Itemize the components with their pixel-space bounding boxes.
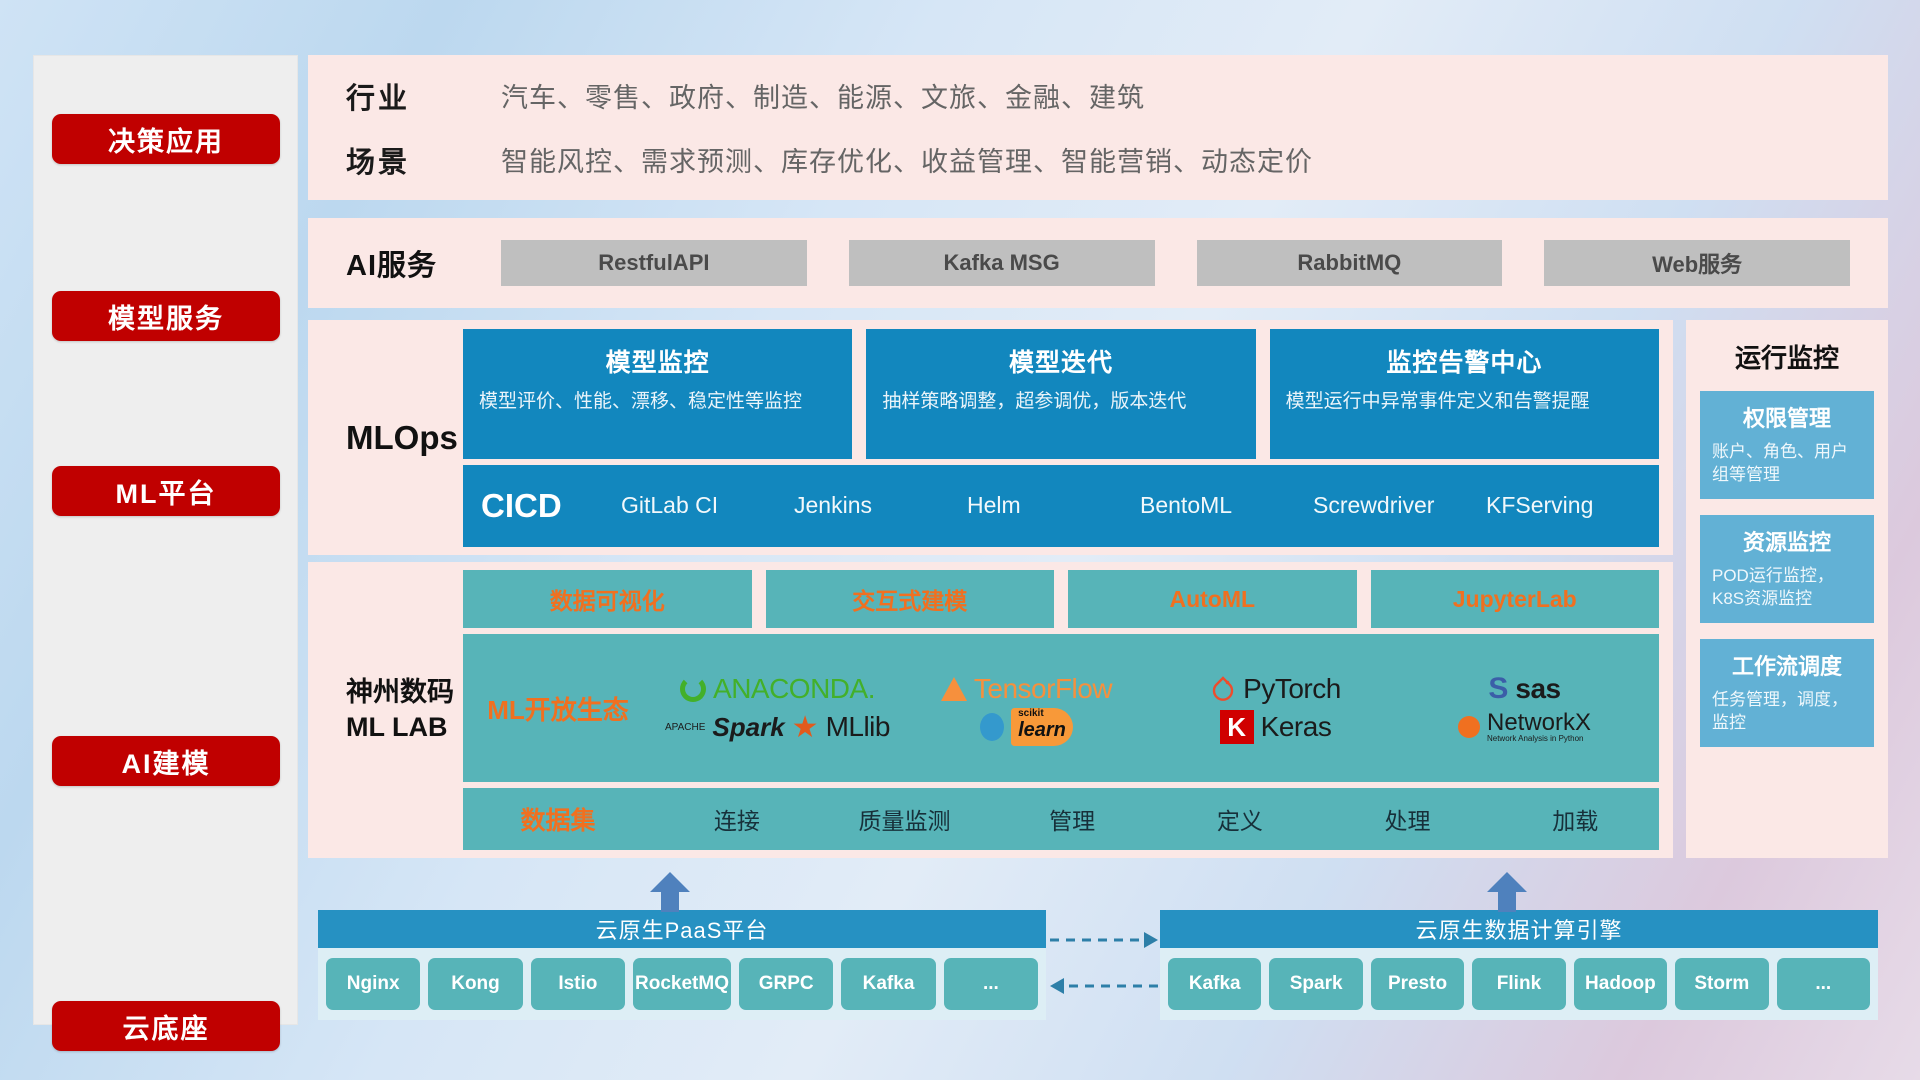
networkx-tagline: Network Analysis in Python bbox=[1487, 735, 1591, 743]
cloud-chip-grpc[interactable]: GRPC bbox=[739, 958, 833, 1010]
dataset-item-manage[interactable]: 管理 bbox=[988, 802, 1156, 836]
ml-open-ecosystem-band: ML开放生态 ANACONDA. TensorFlow bbox=[463, 634, 1659, 782]
engine-chip-hadoop[interactable]: Hadoop bbox=[1574, 958, 1667, 1010]
cloud-native-data-engine-group: 云原生数据计算引擎 Kafka Spark Presto Flink Hadoo… bbox=[1160, 910, 1878, 1020]
tool-interactive-modeling[interactable]: 交互式建模 bbox=[766, 570, 1055, 628]
card-desc: POD运行监控，K8S资源监控 bbox=[1712, 565, 1862, 611]
scikit-badge: scikit learn bbox=[1011, 708, 1073, 746]
dataset-item-load[interactable]: 加载 bbox=[1491, 802, 1659, 836]
cicd-item-jenkins[interactable]: Jenkins bbox=[794, 492, 967, 518]
ai-service-rabbitmq[interactable]: RabbitMQ bbox=[1197, 240, 1503, 286]
rail-item-cloud-base[interactable]: 云底座 bbox=[52, 1001, 280, 1051]
pytorch-flame-icon bbox=[1210, 675, 1236, 703]
cicd-item-screwdriver[interactable]: Screwdriver bbox=[1313, 492, 1486, 518]
monitor-card-resource[interactable]: 资源监控 POD运行监控，K8S资源监控 bbox=[1700, 515, 1874, 623]
mlops-card-alert-center[interactable]: 监控告警中心 模型运行中异常事件定义和告警提醒 bbox=[1270, 329, 1659, 459]
scikit-blob-icon bbox=[980, 713, 1004, 741]
anaconda-ring-icon bbox=[680, 676, 706, 702]
tensorflow-mark-icon bbox=[941, 677, 967, 701]
scenario-row: 场景 智能风控、需求预测、库存优化、收益管理、智能营销、动态定价 bbox=[346, 139, 1850, 181]
cloud-base-zone: 云原生PaaS平台 Nginx Kong Istio RocketMQ GRPC… bbox=[308, 870, 1888, 1050]
cloud-chip-rocketmq[interactable]: RocketMQ bbox=[633, 958, 731, 1010]
engine-chip-more[interactable]: ... bbox=[1777, 958, 1870, 1010]
ai-service-label: AI服务 bbox=[346, 242, 501, 284]
learn-wordmark: learn bbox=[1018, 719, 1066, 741]
cicd-item-kfserving[interactable]: KFServing bbox=[1486, 492, 1659, 518]
industry-values: 汽车、零售、政府、制造、能源、文旅、金融、建筑 bbox=[501, 76, 1145, 115]
anaconda-logo: ANACONDA. bbox=[680, 673, 875, 705]
networkx-wordmark: NetworkX bbox=[1487, 711, 1591, 735]
cloud-engine-title: 云原生数据计算引擎 bbox=[1160, 910, 1878, 948]
dataset-title: 数据集 bbox=[463, 801, 653, 837]
spark-apache-text: APACHE bbox=[665, 722, 705, 733]
cicd-item-helm[interactable]: Helm bbox=[967, 492, 1140, 518]
cloud-paas-chip-list: Nginx Kong Istio RocketMQ GRPC Kafka ... bbox=[318, 948, 1046, 1020]
monitor-card-workflow[interactable]: 工作流调度 任务管理，调度，监控 bbox=[1700, 639, 1874, 747]
cloud-chip-istio[interactable]: Istio bbox=[531, 958, 625, 1010]
scikit-learn-logo: scikit learn bbox=[980, 708, 1073, 746]
cloud-chip-more[interactable]: ... bbox=[944, 958, 1038, 1010]
scenario-label: 场景 bbox=[346, 139, 501, 181]
industry-scenario-panel: 行业 汽车、零售、政府、制造、能源、文旅、金融、建筑 场景 智能风控、需求预测、… bbox=[308, 55, 1888, 200]
sas-logo: S sas bbox=[1488, 672, 1560, 706]
networkx-node-icon bbox=[1458, 716, 1480, 738]
cloud-paas-title: 云原生PaaS平台 bbox=[318, 910, 1046, 948]
cicd-item-gitlab-ci[interactable]: GitLab CI bbox=[621, 492, 794, 518]
rail-item-label: ML平台 bbox=[116, 472, 217, 511]
ml-lab-tool-list: 数据可视化 交互式建模 AutoML JupyterLab bbox=[463, 570, 1659, 628]
up-arrow-icon bbox=[648, 872, 692, 912]
rail-item-label: 模型服务 bbox=[108, 297, 224, 336]
ml-lab-panel: 神州数码 ML LAB 数据可视化 交互式建模 AutoML JupyterLa… bbox=[308, 562, 1673, 858]
card-title: 模型迭代 bbox=[882, 343, 1239, 379]
sas-wordmark: sas bbox=[1515, 673, 1560, 705]
ai-service-items: RestfulAPI Kafka MSG RabbitMQ Web服务 bbox=[501, 240, 1850, 286]
spark-star-icon: ★ bbox=[792, 710, 819, 745]
rail-item-label: 云底座 bbox=[123, 1007, 210, 1046]
sas-mark-icon: S bbox=[1488, 672, 1508, 706]
mlops-card-list: 模型监控 模型评价、性能、漂移、稳定性等监控 模型迭代 抽样策略调整，超参调优，… bbox=[463, 329, 1659, 459]
tool-jupyterlab[interactable]: JupyterLab bbox=[1371, 570, 1660, 628]
card-title: 模型监控 bbox=[479, 343, 836, 379]
tensorflow-wordmark: TensorFlow bbox=[974, 673, 1112, 705]
monitor-card-permission[interactable]: 权限管理 账户、角色、用户组等管理 bbox=[1700, 391, 1874, 499]
engine-chip-kafka[interactable]: Kafka bbox=[1168, 958, 1261, 1010]
tool-automl[interactable]: AutoML bbox=[1068, 570, 1357, 628]
stack-layer-rail: 决策应用 模型服务 ML平台 AI建模 云底座 bbox=[33, 55, 298, 1025]
card-title: 资源监控 bbox=[1712, 525, 1862, 557]
ml-open-ecosystem-label: ML开放生态 bbox=[463, 690, 653, 727]
cloud-engine-chip-list: Kafka Spark Presto Flink Hadoop Storm ..… bbox=[1160, 948, 1878, 1020]
cloud-chip-nginx[interactable]: Nginx bbox=[326, 958, 420, 1010]
pytorch-logo: PyTorch bbox=[1210, 673, 1341, 705]
rail-item-decision-app[interactable]: 决策应用 bbox=[52, 114, 280, 164]
tool-data-visualization[interactable]: 数据可视化 bbox=[463, 570, 752, 628]
cloud-native-paas-group: 云原生PaaS平台 Nginx Kong Istio RocketMQ GRPC… bbox=[318, 910, 1046, 1020]
mlops-label: MLOps bbox=[308, 419, 463, 457]
ml-lab-label-line2: ML LAB bbox=[346, 710, 463, 745]
bidirectional-link-arrows bbox=[1048, 928, 1160, 1000]
up-arrow-icon bbox=[1485, 872, 1529, 912]
dataset-item-quality-monitor[interactable]: 质量监测 bbox=[821, 802, 989, 836]
ai-service-web[interactable]: Web服务 bbox=[1544, 240, 1850, 286]
keras-mark-icon: K bbox=[1220, 710, 1254, 744]
anaconda-wordmark: ANACONDA. bbox=[713, 673, 875, 705]
dataset-item-define[interactable]: 定义 bbox=[1156, 802, 1324, 836]
ml-lab-label-line1: 神州数码 bbox=[346, 675, 463, 710]
rail-item-model-service[interactable]: 模型服务 bbox=[52, 291, 280, 341]
card-desc: 账户、角色、用户组等管理 bbox=[1712, 441, 1862, 487]
card-title: 工作流调度 bbox=[1712, 649, 1862, 681]
cloud-chip-kafka[interactable]: Kafka bbox=[841, 958, 935, 1010]
networkx-logo: NetworkX Network Analysis in Python bbox=[1458, 711, 1591, 743]
industry-label: 行业 bbox=[346, 75, 501, 117]
card-title: 权限管理 bbox=[1712, 401, 1862, 433]
card-desc: 模型运行中异常事件定义和告警提醒 bbox=[1286, 389, 1643, 415]
mlops-card-model-iteration[interactable]: 模型迭代 抽样策略调整，超参调优，版本迭代 bbox=[866, 329, 1255, 459]
mlops-card-model-monitoring[interactable]: 模型监控 模型评价、性能、漂移、稳定性等监控 bbox=[463, 329, 852, 459]
engine-chip-storm[interactable]: Storm bbox=[1675, 958, 1768, 1010]
mlops-panel: MLOps 模型监控 模型评价、性能、漂移、稳定性等监控 模型迭代 抽样策略调整… bbox=[308, 320, 1673, 555]
ai-service-restfulapi[interactable]: RestfulAPI bbox=[501, 240, 807, 286]
runtime-monitoring-panel: 运行监控 权限管理 账户、角色、用户组等管理 资源监控 POD运行监控，K8S资… bbox=[1686, 320, 1888, 858]
pytorch-wordmark: PyTorch bbox=[1243, 673, 1341, 705]
dataset-bar: 数据集 连接 质量监测 管理 定义 处理 加载 bbox=[463, 788, 1659, 850]
spark-wordmark: Spark bbox=[712, 712, 784, 743]
card-desc: 任务管理，调度，监控 bbox=[1712, 689, 1862, 735]
keras-wordmark: Keras bbox=[1261, 711, 1332, 743]
engine-chip-presto[interactable]: Presto bbox=[1371, 958, 1464, 1010]
rail-item-ml-platform[interactable]: ML平台 bbox=[52, 466, 280, 516]
card-desc: 抽样策略调整，超参调优，版本迭代 bbox=[882, 389, 1239, 415]
spark-mllib-logo: APACHE Spark ★ MLlib bbox=[665, 710, 890, 745]
mllib-wordmark: MLlib bbox=[826, 711, 890, 743]
ml-lab-label: 神州数码 ML LAB bbox=[308, 675, 463, 745]
card-title: 监控告警中心 bbox=[1286, 343, 1643, 379]
rail-item-ai-modeling[interactable]: AI建模 bbox=[52, 736, 280, 786]
rail-item-label: 决策应用 bbox=[108, 120, 224, 159]
ai-service-kafka-msg[interactable]: Kafka MSG bbox=[849, 240, 1155, 286]
tensorflow-logo: TensorFlow bbox=[941, 673, 1112, 705]
engine-chip-spark[interactable]: Spark bbox=[1269, 958, 1362, 1010]
cicd-bar: CICD GitLab CI Jenkins Helm BentoML Scre… bbox=[463, 465, 1659, 547]
rail-item-label: AI建模 bbox=[122, 742, 211, 781]
dataset-item-connect[interactable]: 连接 bbox=[653, 802, 821, 836]
cicd-title: CICD bbox=[481, 487, 621, 525]
card-desc: 模型评价、性能、漂移、稳定性等监控 bbox=[479, 389, 836, 415]
cicd-item-bentoml[interactable]: BentoML bbox=[1140, 492, 1313, 518]
scenario-values: 智能风控、需求预测、库存优化、收益管理、智能营销、动态定价 bbox=[501, 140, 1313, 179]
keras-logo: K Keras bbox=[1220, 710, 1332, 744]
engine-chip-flink[interactable]: Flink bbox=[1472, 958, 1565, 1010]
cloud-chip-kong[interactable]: Kong bbox=[428, 958, 522, 1010]
scikit-sub-text: scikit bbox=[1018, 709, 1066, 719]
ai-service-panel: AI服务 RestfulAPI Kafka MSG RabbitMQ Web服务 bbox=[308, 218, 1888, 308]
industry-row: 行业 汽车、零售、政府、制造、能源、文旅、金融、建筑 bbox=[346, 75, 1850, 117]
runtime-monitoring-title: 运行监控 bbox=[1700, 338, 1874, 375]
dataset-item-process[interactable]: 处理 bbox=[1324, 802, 1492, 836]
